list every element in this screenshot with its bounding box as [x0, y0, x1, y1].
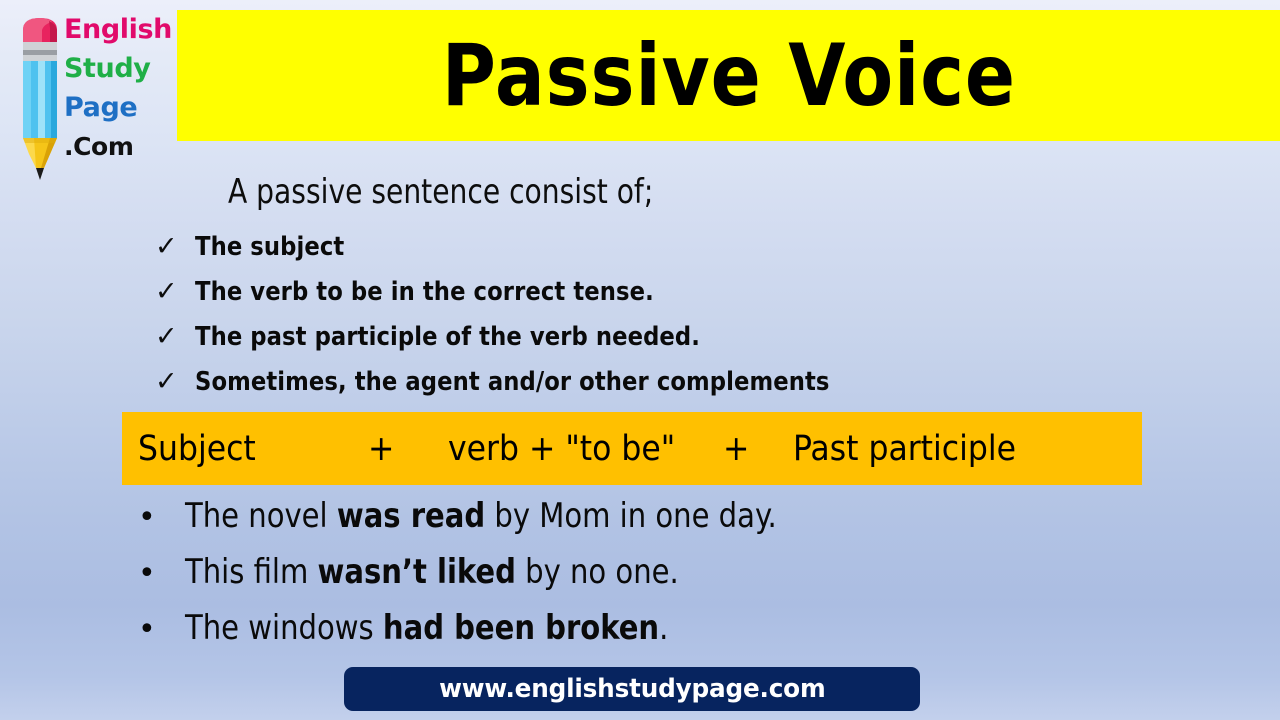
- logo-word-english: English: [64, 10, 182, 49]
- footer-url-text: www.englishstudypage.com: [439, 674, 825, 704]
- example-item: • The novel was read by Mom in one day.: [138, 496, 1188, 552]
- page-title: Passive Voice: [441, 33, 1015, 119]
- title-banner: Passive Voice: [177, 10, 1280, 141]
- formula-plus-one: +: [368, 429, 448, 469]
- site-logo: English Study Page .Com: [8, 8, 178, 180]
- examples-list: • The novel was read by Mom in one day. …: [138, 496, 1188, 664]
- checklist: ✓ The subject ✓ The verb to be in the co…: [155, 230, 1155, 410]
- slide-canvas: English Study Page .Com Passive Voice A …: [0, 0, 1280, 720]
- checklist-item-label: Sometimes, the agent and/or other comple…: [195, 365, 830, 399]
- formula-past-participle: Past participle: [793, 429, 1016, 469]
- checklist-item-label: The subject: [195, 230, 344, 264]
- logo-word-page: Page: [64, 88, 182, 127]
- formula-bar: Subject + verb + "to be" + Past particip…: [122, 412, 1142, 485]
- formula-plus-two: +: [723, 429, 793, 469]
- example-item: • The windows had been broken.: [138, 608, 1188, 664]
- footer-url-bar[interactable]: www.englishstudypage.com: [344, 667, 920, 711]
- formula-subject: Subject: [138, 429, 368, 469]
- example-sentence: The novel was read by Mom in one day.: [185, 496, 777, 536]
- subtitle-text: A passive sentence consist of;: [228, 172, 653, 212]
- formula-row: Subject + verb + "to be" + Past particip…: [122, 429, 1142, 469]
- bullet-icon: •: [138, 498, 185, 538]
- check-icon: ✓: [155, 230, 195, 264]
- checklist-item: ✓ The subject: [155, 230, 1155, 275]
- example-text-bold: had been broken: [383, 608, 659, 648]
- check-icon: ✓: [155, 275, 195, 309]
- checklist-item-label: The past participle of the verb needed.: [195, 320, 700, 354]
- example-text-bold: wasn’t liked: [318, 552, 516, 592]
- example-text-before: The novel: [185, 496, 337, 536]
- formula-verb-to-be: verb + "to be": [448, 429, 723, 469]
- checklist-item-label: The verb to be in the correct tense.: [195, 275, 654, 309]
- example-text-bold: was read: [337, 496, 485, 536]
- check-icon: ✓: [155, 365, 195, 399]
- checklist-item: ✓ The past participle of the verb needed…: [155, 320, 1155, 365]
- example-text-after: by Mom in one day.: [485, 496, 777, 536]
- example-sentence: The windows had been broken.: [185, 608, 668, 648]
- logo-word-study: Study: [64, 49, 182, 88]
- example-item: • This film wasn’t liked by no one.: [138, 552, 1188, 608]
- checklist-item: ✓ The verb to be in the correct tense.: [155, 275, 1155, 320]
- check-icon: ✓: [155, 320, 195, 354]
- example-text-before: This film: [185, 552, 318, 592]
- pencil-icon: [14, 16, 66, 182]
- logo-wordmark: English Study Page .Com: [64, 10, 182, 166]
- bullet-icon: •: [138, 610, 185, 650]
- checklist-item: ✓ Sometimes, the agent and/or other comp…: [155, 365, 1155, 410]
- bullet-icon: •: [138, 554, 185, 594]
- example-sentence: This film wasn’t liked by no one.: [185, 552, 679, 592]
- example-text-after: .: [659, 608, 668, 648]
- example-text-before: The windows: [185, 608, 383, 648]
- example-text-after: by no one.: [516, 552, 679, 592]
- logo-word-com: .Com: [64, 127, 182, 166]
